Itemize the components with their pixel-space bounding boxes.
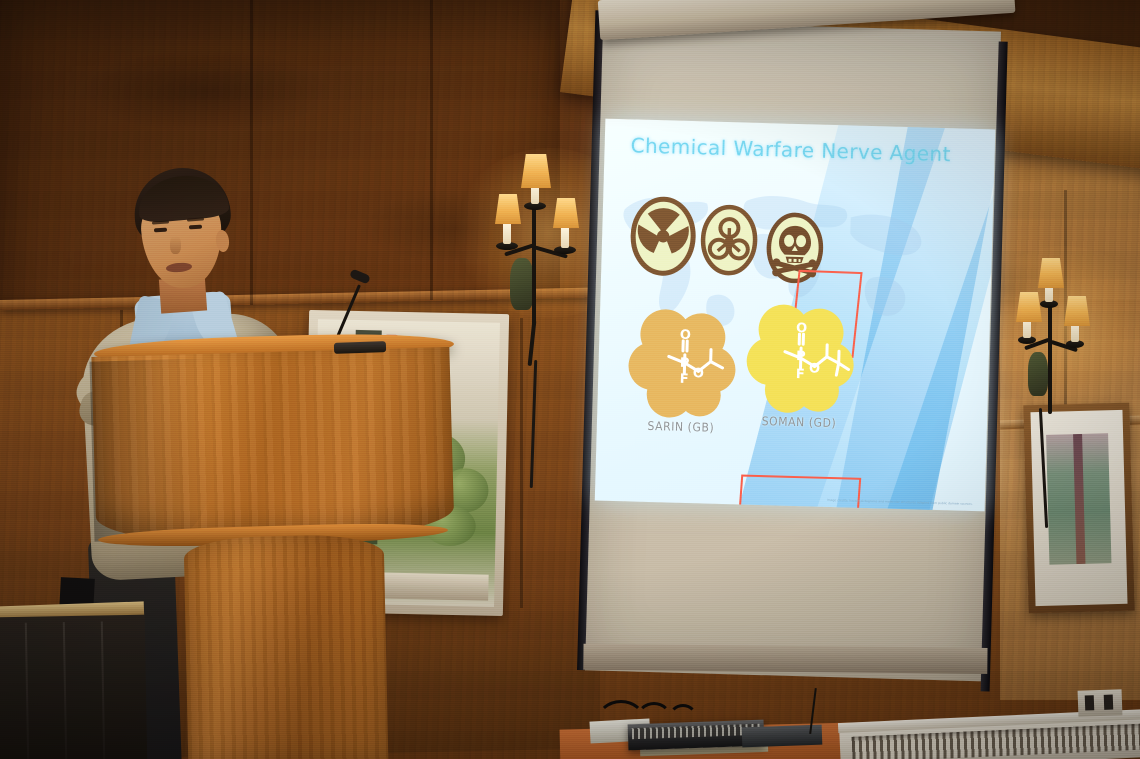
svg-text:O: O [796,321,807,336]
microphone-base [334,341,386,354]
lamp-shade [1064,296,1090,326]
projected-slide: Chemical Warfare Nerve Agent [595,119,996,512]
lamp-shade [521,154,551,188]
radiation-hazard-icon [629,195,697,277]
molecule-row: O P F O SARIN (GB) [617,297,872,494]
candle [561,226,569,248]
candle [503,222,511,244]
wall-sconce-right [1014,272,1114,442]
svg-text:F: F [796,367,805,382]
panel-seam [430,0,433,300]
molecule-blob-shape: O P F O [743,301,858,416]
hazard-icon-row [629,191,861,287]
molecule-label-sarin: SARIN (GB) [625,418,737,435]
molecule-blob-shape: O P F O [625,305,740,420]
sconce-stem [532,206,536,326]
screen-bottom-bar [583,644,987,674]
skirt-pleat [63,622,68,759]
podium-base-column [184,534,389,759]
molecule-card-sarin: O P F O SARIN (GB) [624,305,740,458]
sconce-backplate [1028,352,1048,396]
projection-screen-assembly: Chemical Warfare Nerve Agent [576,0,1015,701]
skirted-table [0,604,150,759]
picture-image [1046,433,1111,565]
table-skirt [0,615,147,759]
sconce-backplate [510,258,534,310]
svg-text:P: P [680,356,690,371]
outlet-slot [1104,695,1114,710]
eye-left [154,228,167,233]
panel-seam [520,318,523,608]
signal-cable [636,702,672,736]
svg-text:O: O [809,361,820,376]
molecule-card-soman: O P F O SOMAN (GD) [742,301,858,454]
wall-sconce-left [488,170,598,350]
eye-right [189,225,202,230]
svg-text:F: F [680,372,689,387]
biohazard-icon [699,203,759,277]
svg-text:P: P [796,349,806,364]
lamp-shade [495,194,521,224]
outlet-slot [1085,695,1095,710]
podium-body [91,347,454,547]
svg-text:O: O [693,366,704,381]
signal-cable [668,704,698,734]
lamp-shade [1038,258,1064,288]
skirt-pleat [25,623,30,759]
presentation-photo-scene: Chemical Warfare Nerve Agent [0,0,1140,759]
lamp-shade [553,198,579,228]
nose [170,236,181,254]
tree-trunk-motif [1073,434,1085,564]
molecule-label-soman: SOMAN (GD) [743,414,855,431]
lamp-shade [1016,292,1042,322]
svg-text:O: O [680,328,691,343]
wall-outlet[interactable] [1078,689,1123,717]
sconce-stem [1048,304,1052,414]
skirt-pleat [101,621,106,759]
